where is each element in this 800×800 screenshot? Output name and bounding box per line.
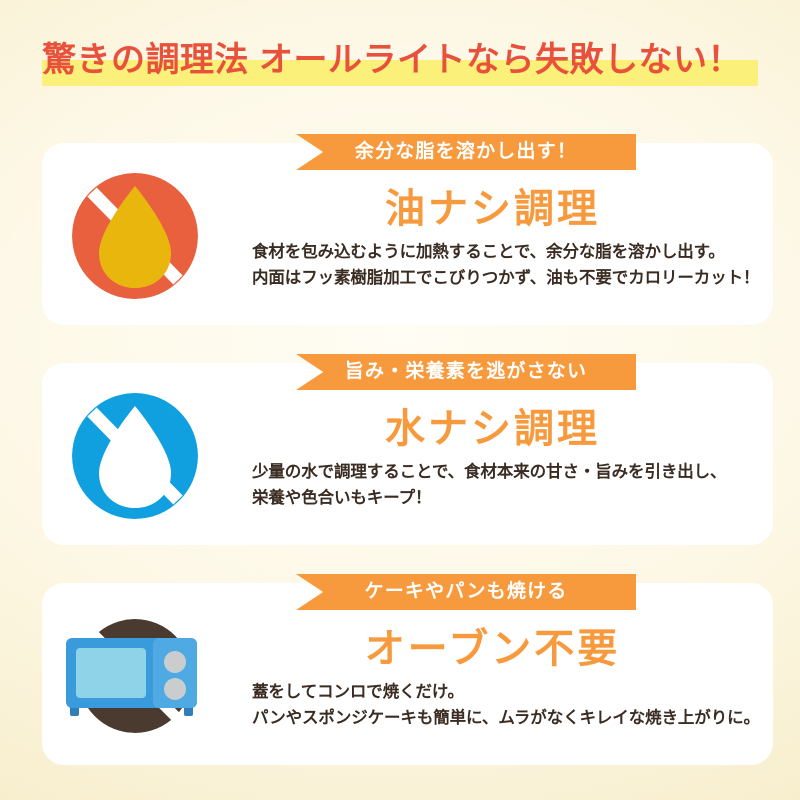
feature-title: オーブン不要 bbox=[212, 616, 773, 674]
feature-card-oven-body: ケーキやパンも焼ける オーブン不要 蓋をしてコンロで焼くだけ。 パンやスポンジケ… bbox=[212, 583, 773, 765]
no-oil-icon bbox=[58, 161, 218, 311]
description-line-1: 少量の水で調理することで、食材本来の甘さ・旨みを引き出し、 bbox=[252, 459, 772, 485]
feature-card-water-body: 旨み・栄養素を逃がさない 水ナシ調理 少量の水で調理することで、食材本来の甘さ・… bbox=[212, 363, 773, 545]
description-line-1: 蓋をしてコンロで焼くだけ。 bbox=[252, 679, 772, 705]
feature-card-oven: ケーキやパンも焼ける オーブン不要 蓋をしてコンロで焼くだけ。 パンやスポンジケ… bbox=[42, 583, 773, 765]
description-line-2: 内面はフッ素樹脂加工でこびりつかず、油も不要でカロリーカット！ bbox=[252, 265, 772, 291]
feature-description: 少量の水で調理することで、食材本来の甘さ・旨みを引き出し、 栄養や色合いもキープ… bbox=[252, 459, 772, 511]
feature-card-oil: 余分な脂を溶かし出す！ 油ナシ調理 食材を包み込むように加熱することで、余分な脂… bbox=[42, 143, 773, 325]
page-title: 驚きの調理法 オールライトなら失敗しない！ bbox=[42, 34, 742, 86]
description-line-1: 食材を包み込むように加熱することで、余分な脂を溶かし出す。 bbox=[252, 239, 772, 265]
promo-poster: 驚きの調理法 オールライトなら失敗しない！ 余分な脂を溶かし出す！ 油ナシ調理 bbox=[0, 0, 800, 800]
feature-description: 蓋をしてコンロで焼くだけ。 パンやスポンジケーキも簡単に、ムラがなくキレイな焼き… bbox=[252, 679, 772, 731]
no-oven-icon bbox=[58, 601, 218, 751]
headline-section: 驚きの調理法 オールライトなら失敗しない！ bbox=[0, 34, 800, 96]
feature-card-oil-body: 余分な脂を溶かし出す！ 油ナシ調理 食材を包み込むように加熱することで、余分な脂… bbox=[212, 143, 773, 325]
ribbon-banner: ケーキやパンも焼ける bbox=[296, 574, 636, 610]
feature-title: 油ナシ調理 bbox=[212, 176, 773, 234]
feature-description: 食材を包み込むように加熱することで、余分な脂を溶かし出す。 内面はフッ素樹脂加工… bbox=[252, 239, 772, 291]
feature-title: 水ナシ調理 bbox=[212, 396, 773, 454]
description-line-2: パンやスポンジケーキも簡単に、ムラがなくキレイな焼き上がりに。 bbox=[252, 705, 772, 731]
ribbon-banner: 余分な脂を溶かし出す！ bbox=[296, 134, 636, 170]
feature-card-water: 旨み・栄養素を逃がさない 水ナシ調理 少量の水で調理することで、食材本来の甘さ・… bbox=[42, 363, 773, 545]
description-line-2: 栄養や色合いもキープ！ bbox=[252, 485, 772, 511]
ribbon-banner: 旨み・栄養素を逃がさない bbox=[296, 354, 636, 390]
no-water-icon bbox=[58, 381, 218, 531]
